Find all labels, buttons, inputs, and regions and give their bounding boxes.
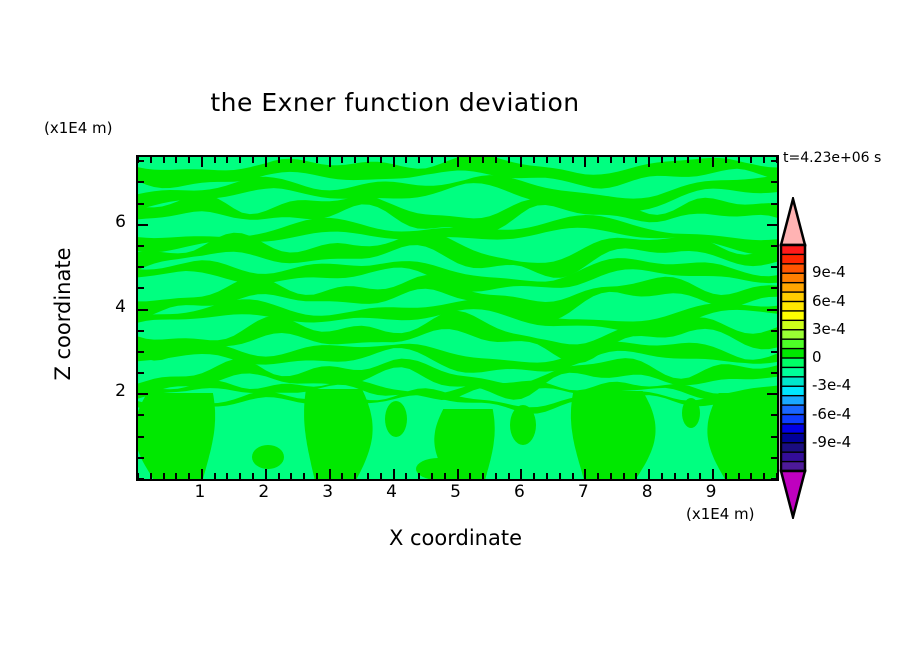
x-tick-top bbox=[661, 157, 663, 163]
timestamp-annotation: t=4.23e+06 s bbox=[783, 150, 881, 166]
x-tick bbox=[303, 473, 305, 479]
x-tick bbox=[725, 473, 727, 479]
x-tick-label: 2 bbox=[249, 482, 279, 502]
y-tick bbox=[138, 478, 144, 480]
y-tick bbox=[138, 457, 144, 459]
x-tick-top bbox=[239, 157, 241, 163]
x-tick bbox=[163, 473, 165, 479]
x-tick-top bbox=[367, 157, 369, 163]
x-tick bbox=[444, 473, 446, 479]
y-tick-right bbox=[771, 372, 777, 374]
x-tick-top bbox=[584, 157, 586, 167]
x-tick-top bbox=[763, 157, 765, 163]
x-tick-top bbox=[303, 157, 305, 163]
x-tick-label: 4 bbox=[377, 482, 407, 502]
x-tick bbox=[469, 473, 471, 479]
x-tick-top bbox=[393, 157, 395, 167]
y-tick bbox=[138, 372, 144, 374]
colorbar-tick-label: 6e-4 bbox=[812, 292, 846, 310]
x-tick-top bbox=[341, 157, 343, 163]
x-tick bbox=[520, 469, 522, 479]
x-tick-label: 6 bbox=[504, 482, 534, 502]
y-tick bbox=[138, 203, 144, 205]
y-tick bbox=[138, 330, 144, 332]
y-tick bbox=[138, 351, 144, 353]
x-tick bbox=[175, 473, 177, 479]
colorbar-tick-label: -6e-4 bbox=[812, 405, 851, 423]
x-tick bbox=[674, 473, 676, 479]
y-tick-right bbox=[771, 160, 777, 162]
x-tick-top bbox=[635, 157, 637, 163]
x-tick bbox=[418, 473, 420, 479]
x-tick-top bbox=[674, 157, 676, 163]
x-tick-top bbox=[495, 157, 497, 163]
y-tick-right bbox=[771, 414, 777, 416]
x-tick-label: 8 bbox=[632, 482, 662, 502]
x-tick-label: 1 bbox=[185, 482, 215, 502]
contour-field bbox=[138, 157, 777, 479]
x-tick-top bbox=[610, 157, 612, 163]
colorbar-tick-label: 3e-4 bbox=[812, 320, 846, 338]
y-tick-right bbox=[771, 245, 777, 247]
x-axis-unit-label: (x1E4 m) bbox=[686, 505, 755, 523]
x-tick bbox=[495, 473, 497, 479]
x-tick-top bbox=[290, 157, 292, 163]
x-tick bbox=[584, 469, 586, 479]
x-tick-top bbox=[278, 157, 280, 163]
x-tick-top bbox=[418, 157, 420, 163]
x-tick-top bbox=[354, 157, 356, 163]
x-tick bbox=[329, 469, 331, 479]
x-tick bbox=[239, 473, 241, 479]
x-tick bbox=[635, 473, 637, 479]
x-tick bbox=[457, 469, 459, 479]
colorbar-tick-label: -9e-4 bbox=[812, 433, 851, 451]
x-tick-top bbox=[508, 157, 510, 163]
x-tick-top bbox=[214, 157, 216, 163]
colorbar-tick-label: 0 bbox=[812, 348, 822, 366]
x-tick bbox=[201, 469, 203, 479]
y-tick-right bbox=[771, 478, 777, 480]
x-tick-top bbox=[252, 157, 254, 163]
x-tick-top bbox=[572, 157, 574, 163]
y-tick-right bbox=[771, 436, 777, 438]
x-tick-top bbox=[175, 157, 177, 163]
x-tick-top bbox=[546, 157, 548, 163]
page-title: the Exner function deviation bbox=[0, 88, 790, 117]
x-tick bbox=[214, 473, 216, 479]
x-tick bbox=[559, 473, 561, 479]
x-tick-top bbox=[738, 157, 740, 163]
x-tick-top bbox=[597, 157, 599, 163]
y-tick-label: 4 bbox=[96, 297, 126, 317]
figure-canvas: the Exner function deviation (x1E4 m) t=… bbox=[0, 0, 904, 654]
x-tick-top bbox=[699, 157, 701, 163]
x-tick-label: 7 bbox=[568, 482, 598, 502]
x-tick bbox=[597, 473, 599, 479]
x-tick-top bbox=[623, 157, 625, 163]
y-tick-right bbox=[771, 457, 777, 459]
y-tick bbox=[138, 160, 144, 162]
x-tick bbox=[763, 473, 765, 479]
y-tick bbox=[138, 181, 144, 183]
x-tick bbox=[226, 473, 228, 479]
x-tick bbox=[648, 469, 650, 479]
y-tick-right bbox=[771, 181, 777, 183]
x-tick bbox=[623, 473, 625, 479]
x-tick-top bbox=[648, 157, 650, 167]
x-tick-top bbox=[533, 157, 535, 163]
x-tick-top bbox=[457, 157, 459, 167]
x-tick bbox=[546, 473, 548, 479]
x-tick bbox=[316, 473, 318, 479]
x-tick bbox=[533, 473, 535, 479]
x-tick bbox=[738, 473, 740, 479]
x-tick-top bbox=[265, 157, 267, 167]
x-tick-label: 9 bbox=[696, 482, 726, 502]
colorbar-swatches bbox=[779, 197, 807, 519]
y-tick-right bbox=[771, 351, 777, 353]
x-tick-top bbox=[150, 157, 152, 163]
y-tick-right bbox=[771, 330, 777, 332]
y-tick-label: 6 bbox=[96, 212, 126, 232]
y-tick bbox=[138, 309, 148, 311]
x-tick-top bbox=[469, 157, 471, 163]
x-tick-top bbox=[482, 157, 484, 163]
x-tick bbox=[252, 473, 254, 479]
y-tick bbox=[138, 436, 144, 438]
y-tick bbox=[138, 414, 144, 416]
y-tick-right bbox=[767, 393, 777, 395]
x-tick bbox=[431, 473, 433, 479]
x-tick bbox=[750, 473, 752, 479]
x-tick bbox=[290, 473, 292, 479]
x-tick-label: 5 bbox=[441, 482, 471, 502]
x-tick bbox=[482, 473, 484, 479]
x-tick bbox=[341, 473, 343, 479]
y-tick-right bbox=[771, 266, 777, 268]
y-tick bbox=[138, 245, 144, 247]
x-tick-top bbox=[687, 157, 689, 163]
x-tick-top bbox=[316, 157, 318, 163]
y-axis-unit-label: (x1E4 m) bbox=[44, 119, 113, 137]
x-tick-top bbox=[559, 157, 561, 163]
x-tick bbox=[265, 469, 267, 479]
y-tick bbox=[138, 266, 144, 268]
colorbar-tick-label: 9e-4 bbox=[812, 263, 846, 281]
x-tick bbox=[661, 473, 663, 479]
x-tick bbox=[367, 473, 369, 479]
x-tick-top bbox=[188, 157, 190, 163]
x-tick bbox=[572, 473, 574, 479]
x-tick-label: 3 bbox=[313, 482, 343, 502]
x-tick-top bbox=[226, 157, 228, 163]
x-tick-top bbox=[444, 157, 446, 163]
x-axis-title: X coordinate bbox=[136, 526, 775, 550]
x-tick-top bbox=[329, 157, 331, 167]
contour-plot-area bbox=[136, 155, 779, 481]
x-tick-top bbox=[163, 157, 165, 163]
x-tick bbox=[150, 473, 152, 479]
y-tick-right bbox=[771, 287, 777, 289]
x-tick bbox=[354, 473, 356, 479]
x-tick bbox=[188, 473, 190, 479]
y-tick bbox=[138, 224, 148, 226]
x-tick bbox=[610, 473, 612, 479]
x-tick-top bbox=[725, 157, 727, 163]
colorbar[interactable] bbox=[779, 197, 807, 519]
x-tick-top bbox=[405, 157, 407, 163]
y-tick-right bbox=[767, 309, 777, 311]
x-tick bbox=[508, 473, 510, 479]
colorbar-tick-label: -3e-4 bbox=[812, 376, 851, 394]
x-tick bbox=[380, 473, 382, 479]
x-tick bbox=[278, 473, 280, 479]
x-tick bbox=[405, 473, 407, 479]
x-tick bbox=[687, 473, 689, 479]
x-tick-top bbox=[380, 157, 382, 163]
y-tick-label: 2 bbox=[96, 381, 126, 401]
y-axis-title: Z coordinate bbox=[51, 214, 75, 414]
y-tick bbox=[138, 287, 144, 289]
x-tick-top bbox=[201, 157, 203, 167]
y-tick-right bbox=[771, 203, 777, 205]
y-tick bbox=[138, 393, 148, 395]
x-tick-top bbox=[750, 157, 752, 163]
x-tick bbox=[393, 469, 395, 479]
x-tick-top bbox=[431, 157, 433, 163]
x-tick bbox=[699, 473, 701, 479]
y-tick-right bbox=[767, 224, 777, 226]
x-tick-top bbox=[712, 157, 714, 167]
x-tick-top bbox=[520, 157, 522, 167]
x-tick bbox=[712, 469, 714, 479]
